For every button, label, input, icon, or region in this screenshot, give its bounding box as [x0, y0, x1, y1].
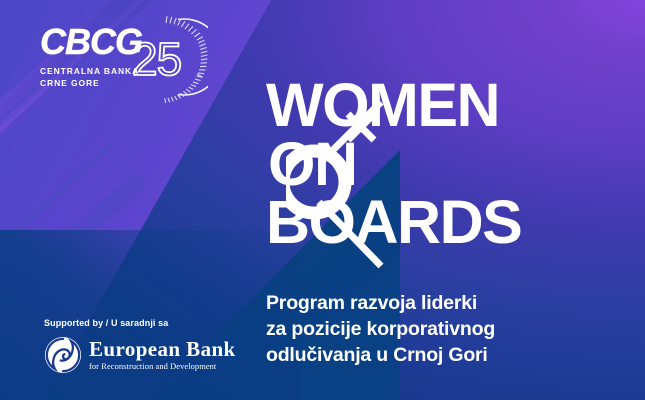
subtitle-line-3: odlučivanja u Crnoj Gori — [266, 343, 638, 369]
subtitle-line-2: za pozicije korporativnog — [266, 317, 638, 343]
cbcg-subtitle-line-2: CRNE GORE — [40, 78, 100, 88]
partner-block: Supported by / U saradnji sa European Ba… — [44, 318, 244, 374]
subtitle-line-1: Program razvoja liderki — [266, 291, 638, 317]
partner-name: European Bank — [89, 339, 236, 360]
partner-tagline: for Reconstruction and Development — [89, 362, 236, 371]
partner-wordmark: European Bank for Reconstruction and Dev… — [89, 339, 236, 371]
partner-kicker: Supported by / U saradnji sa — [44, 318, 244, 328]
cbcg-logo: CBCG CENTRALNA BANKA CRNE GORE — [40, 24, 210, 100]
program-subtitle: Program razvoja liderki za pozicije korp… — [266, 291, 638, 369]
partner-lockup: European Bank for Reconstruction and Dev… — [44, 336, 244, 374]
cbcg-wordmark: CBCG — [40, 24, 210, 60]
ebrd-circle-logo-icon — [44, 336, 82, 374]
cbcg-subtitle-line-1: CENTRALNA BANKA — [40, 66, 139, 76]
venus-female-symbol-icon — [286, 100, 406, 270]
cbcg-subtitle: CENTRALNA BANKA CRNE GORE — [40, 65, 210, 90]
poster-canvas: 25 CBCG CENTRALNA BANKA CRNE GORE WOMEN … — [0, 0, 645, 400]
background-bottom-left-vignette — [0, 230, 300, 400]
